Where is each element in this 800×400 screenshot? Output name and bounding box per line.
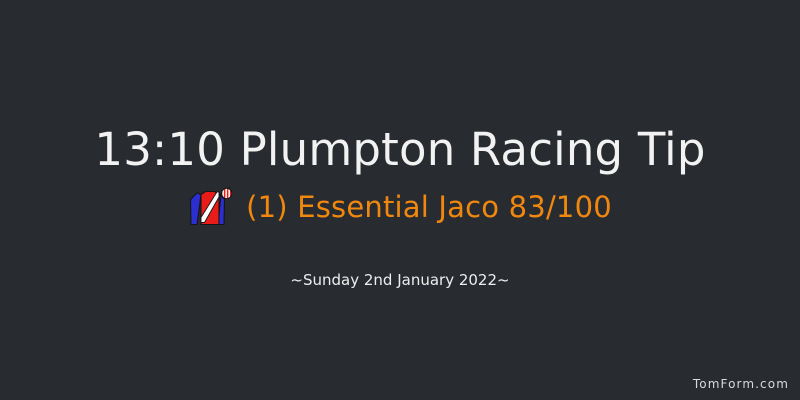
jockey-silk-svg — [188, 186, 232, 228]
race-date: ~Sunday 2nd January 2022~ — [290, 273, 509, 288]
tip-selection-text: (1) Essential Jaco 83/100 — [246, 193, 612, 222]
page-title: 13:10 Plumpton Racing Tip — [94, 127, 705, 172]
racing-tip-card: 13:10 Plumpton Racing Tip — [0, 0, 800, 400]
tip-row: (1) Essential Jaco 83/100 — [0, 186, 800, 228]
footer: TomForm.com — [693, 373, 789, 392]
date-row: ~Sunday 2nd January 2022~ — [0, 270, 800, 289]
jockey-silk-icon — [188, 186, 232, 228]
site-watermark: TomForm.com — [693, 377, 789, 391]
